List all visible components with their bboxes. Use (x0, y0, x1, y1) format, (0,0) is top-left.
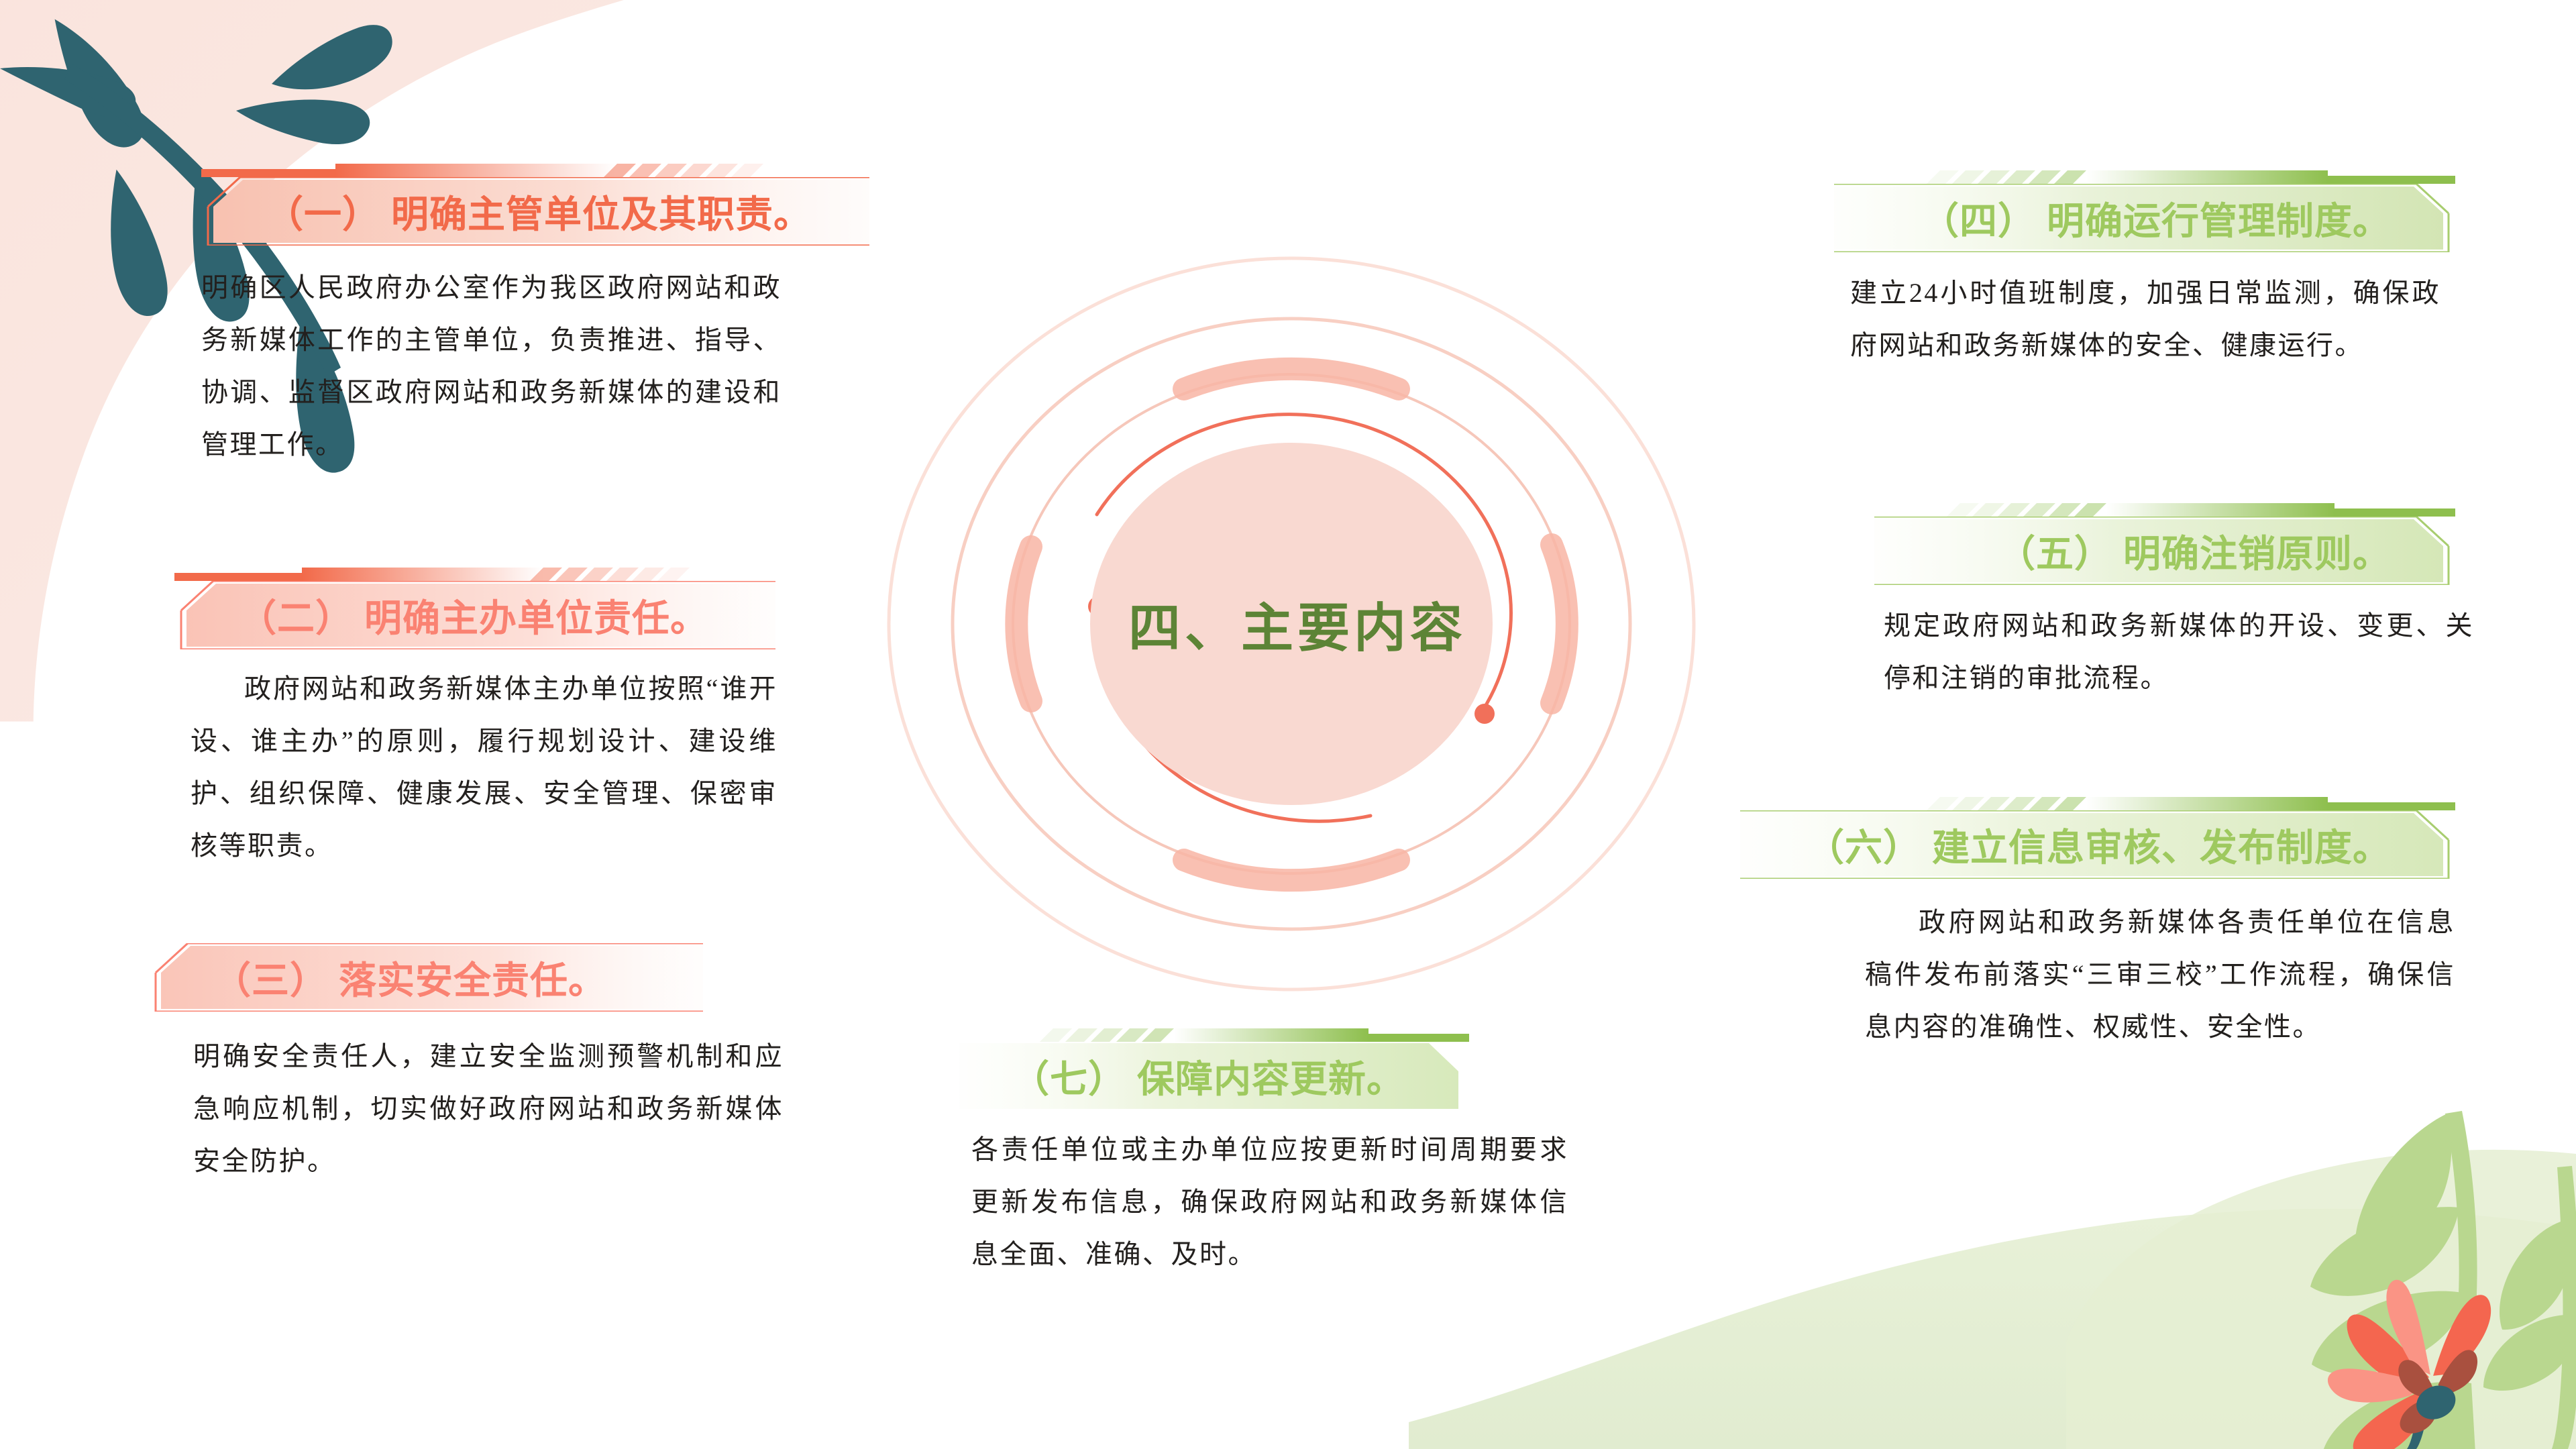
section-block-2: （二） 明确主办单位责任。 政府网站和政务新媒体主办单位按照“谁开设、谁主办”的… (174, 562, 778, 872)
header-label-4: （四） 明确运行管理制度。 (1921, 184, 2391, 252)
section-block-4: （四） 明确运行管理制度。 建立24小时值班制度，加强日常监测，确保政府网站和政… (1831, 165, 2455, 372)
header-title-1: 明确主管单位及其职责。 (391, 184, 812, 239)
header-label-1: （一） 明确主管单位及其职责。 (266, 177, 812, 246)
green-corner-blob (1409, 1209, 2576, 1449)
header-label-5: （五） 明确注销原则。 (1998, 517, 2391, 585)
header-title-7: 保障内容更新。 (1137, 1049, 1405, 1104)
header-number-3: （三） (213, 951, 328, 1005)
section-block-7: （七） 保障内容更新。 各责任单位或主办单位应按更新时间周期要求更新发布信息，确… (959, 1023, 1469, 1281)
section-body-2: 政府网站和政务新媒体主办单位按照“谁开设、谁主办”的原则，履行规划设计、建设维护… (191, 663, 777, 872)
section-block-3: （三） 落实安全责任。 明确安全责任人，建立安全监测预警机制和应急响应机制，切实… (149, 924, 726, 1187)
header-number-6: （六） (1807, 818, 1921, 872)
section-block-1: （一） 明确主管单位及其职责。 明确区人民政府办公室作为我区政府网站和政务新媒体… (201, 158, 805, 471)
section-block-5: （五） 明确注销原则。 规定政府网站和政务新媒体的开设、变更、关停和注销的审批流… (1872, 498, 2455, 704)
header-label-2: （二） 明确主办单位责任。 (239, 581, 708, 649)
header-title-4: 明确运行管理制度。 (2047, 191, 2391, 246)
header-number-2: （二） (239, 588, 354, 643)
section-header-1: （一） 明确主管单位及其职责。 (201, 158, 872, 246)
header-title-6: 建立信息审核、发布制度。 (1932, 818, 2391, 872)
slide-canvas: 四、主要内容 (0, 0, 2576, 1449)
section-header-5: （五） 明确注销原则。 (1872, 498, 2455, 585)
header-label-7: （七） 保障内容更新。 (1012, 1042, 1405, 1110)
flower-decoration (2318, 1271, 2505, 1449)
section-header-4: （四） 明确运行管理制度。 (1831, 165, 2455, 252)
section-body-1: 明确区人民政府办公室作为我区政府网站和政务新媒体工作的主管单位，负责推进、指导、… (201, 262, 782, 471)
green-corner-blob-2 (2066, 1150, 2576, 1449)
section-header-6: （六） 建立信息审核、发布制度。 (1737, 792, 2455, 879)
header-label-3: （三） 落实安全责任。 (213, 943, 606, 1012)
section-body-5: 规定政府网站和政务新媒体的开设、变更、关停和注销的审批流程。 (1884, 600, 2474, 704)
section-body-7: 各责任单位或主办单位应按更新时间周期要求更新发布信息，确保政府网站和政务新媒体信… (971, 1124, 1568, 1281)
section-body-3: 明确安全责任人，建立安全监测预警机制和应急响应机制，切实做好政府网站和政务新媒体… (193, 1030, 784, 1187)
section-body-6: 政府网站和政务新媒体各责任单位在信息稿件发布前落实“三审三校”工作流程，确保信息… (1865, 896, 2455, 1053)
section-header-2: （二） 明确主办单位责任。 (174, 562, 778, 649)
header-label-6: （六） 建立信息审核、发布制度。 (1807, 810, 2391, 879)
header-number-7: （七） (1012, 1049, 1126, 1104)
section-header-7: （七） 保障内容更新。 (959, 1023, 1469, 1110)
section-block-6: （六） 建立信息审核、发布制度。 政府网站和政务新媒体各责任单位在信息稿件发布前… (1737, 792, 2455, 1053)
green-leaf-branch (2310, 1111, 2576, 1449)
header-title-2: 明确主办单位责任。 (364, 588, 708, 643)
center-title: 四、主要内容 (832, 248, 1751, 1000)
section-header-3: （三） 落实安全责任。 (149, 924, 706, 1012)
section-body-4: 建立24小时值班制度，加强日常监测，确保政府网站和政务新媒体的安全、健康运行。 (1850, 267, 2440, 372)
header-title-3: 落实安全责任。 (339, 951, 606, 1005)
header-number-4: （四） (1921, 191, 2036, 246)
header-number-5: （五） (1998, 524, 2112, 578)
header-number-1: （一） (266, 184, 380, 239)
header-title-5: 明确注销原则。 (2123, 524, 2391, 578)
